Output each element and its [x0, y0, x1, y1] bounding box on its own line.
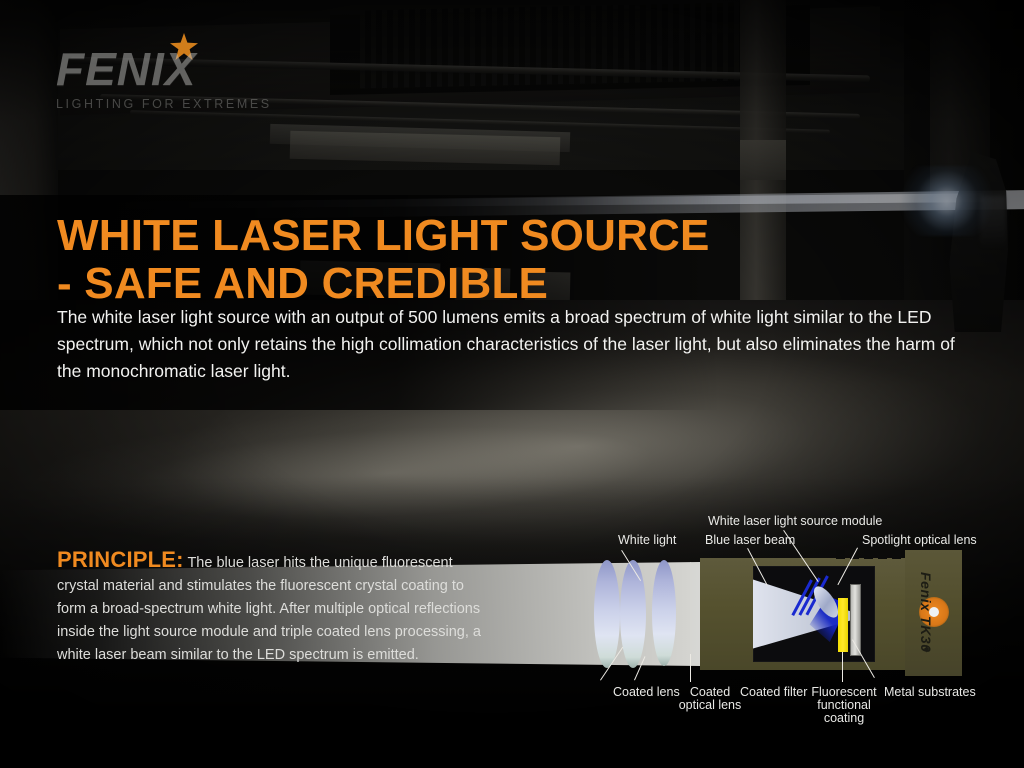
coated-optical-lens-element — [620, 560, 646, 668]
cooling-fin — [892, 550, 901, 559]
fluorescent-coating-element — [838, 598, 848, 652]
page-title: WHITE LASER LIGHT SOURCE - SAFE AND CRED… — [57, 212, 837, 308]
cooling-fin — [836, 550, 845, 559]
diagram-label-blue-laser-beam: Blue laser beam — [705, 533, 795, 548]
diagram-label-coated-filter: Coated filter — [740, 685, 807, 700]
principle-label: PRINCIPLE: — [57, 547, 184, 572]
diagram-label-coated-optical-lens-line2: optical lens — [674, 698, 746, 713]
diagram-label-fluorescent-line3: coating — [810, 711, 878, 726]
intro-paragraph: The white laser light source with an out… — [57, 304, 962, 385]
cooling-fin — [878, 550, 887, 559]
slide-canvas: FENIX LIGHTING FOR EXTREMES WHITE LASER … — [0, 0, 1024, 768]
diagram-label-white-laser-light-source-module: White laser light source module — [708, 514, 882, 529]
star-icon: ✦ — [922, 643, 931, 656]
logo-wordmark: FENIX — [56, 46, 296, 92]
diagram-label-metal-substrates: Metal substrates — [884, 685, 976, 700]
coated-filter-element — [652, 560, 676, 666]
principle-block: PRINCIPLE: The blue laser hits the uniqu… — [57, 548, 487, 667]
cooling-fin — [864, 550, 873, 559]
headline-line-2: - SAFE AND CREDIBLE — [57, 260, 837, 308]
product-name: Fenix TK30 — [918, 572, 934, 653]
leader-line — [690, 654, 691, 682]
diagram-label-spotlight-optical-lens: Spotlight optical lens — [862, 533, 977, 548]
logo-tagline: LIGHTING FOR EXTREMES — [56, 97, 296, 111]
leader-line — [842, 652, 843, 682]
diagram-label-white-light: White light — [618, 533, 676, 548]
diagram-label-coated-lens: Coated lens — [613, 685, 680, 700]
fenix-logo: FENIX LIGHTING FOR EXTREMES — [56, 46, 296, 111]
headline-line-1: WHITE LASER LIGHT SOURCE — [57, 211, 710, 260]
coated-lens-element — [594, 560, 620, 668]
